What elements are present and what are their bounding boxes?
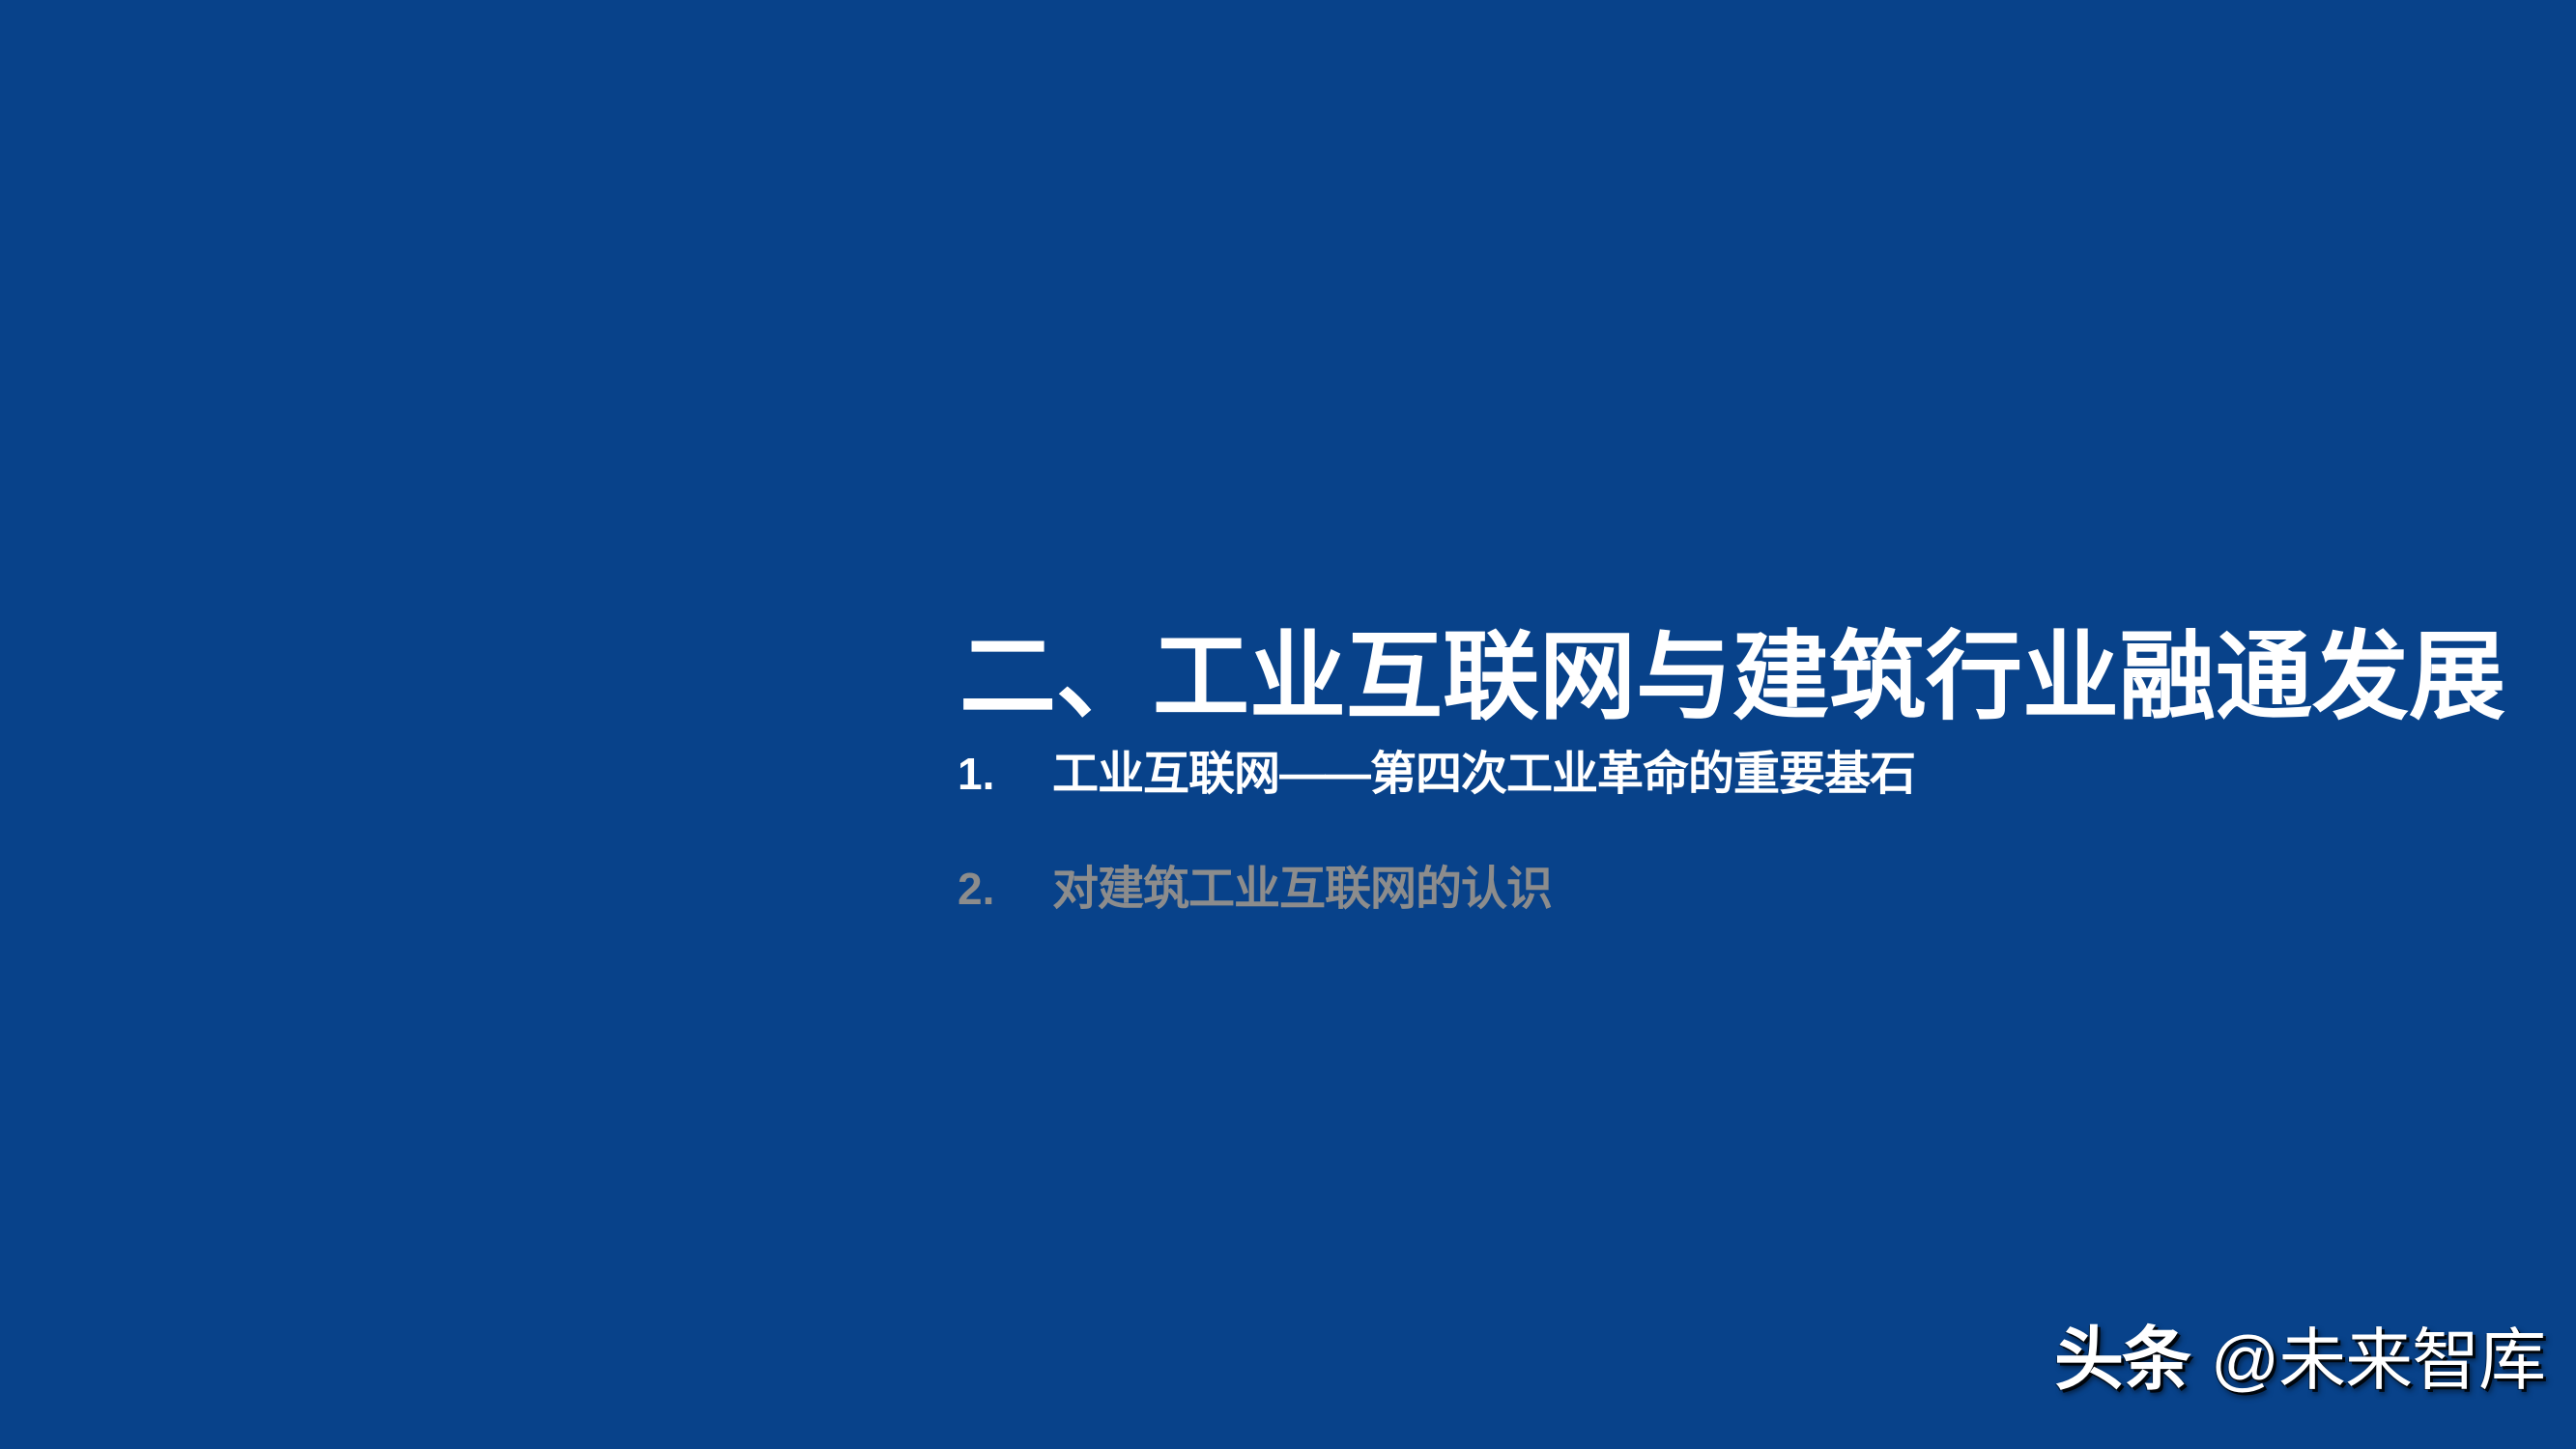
watermark: 头条 @未来智库 [2054, 1321, 2545, 1399]
agenda-list: 1. 工业互联网——第四次工业革命的重要基石 2. 对建筑工业互联网的认识 [958, 744, 2407, 974]
agenda-item-1[interactable]: 1. 工业互联网——第四次工业革命的重要基石 [958, 744, 2407, 805]
agenda-item-1-label: 工业互联网——第四次工业革命的重要基石 [1052, 745, 1915, 805]
agenda-item-2-label: 对建筑工业互联网的认识 [1052, 860, 1552, 920]
agenda-item-2-number: 2. [958, 859, 1052, 919]
agenda-item-2[interactable]: 2. 对建筑工业互联网的认识 [958, 859, 2407, 920]
watermark-handle: @未来智库 [2211, 1321, 2545, 1399]
watermark-brand: 头条 [2054, 1321, 2190, 1399]
presentation-slide: 二、工业互联网与建筑行业融通发展 1. 工业互联网——第四次工业革命的重要基石 … [0, 0, 2576, 1449]
agenda-item-1-number: 1. [958, 744, 1052, 804]
section-title: 二、工业互联网与建筑行业融通发展 [959, 623, 2544, 731]
